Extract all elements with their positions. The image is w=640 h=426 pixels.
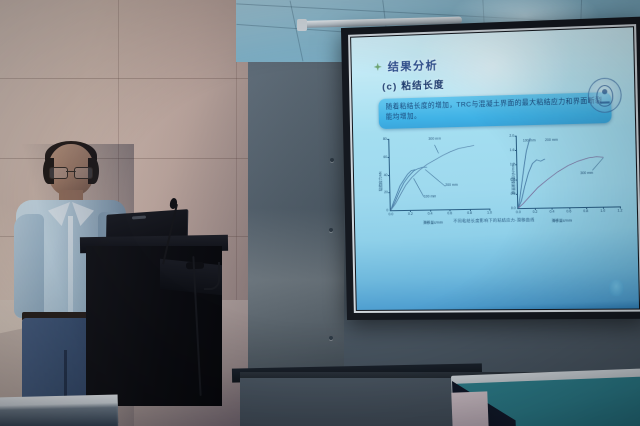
slide-callout-box: 随着粘结长度的增加，TRC与混凝土界面的最大粘结应力和界面断裂能均增加。 xyxy=(378,92,611,129)
series-annotation: 300 mm xyxy=(580,170,593,174)
wall-fixture-dot xyxy=(329,228,333,232)
chart-plot-area: 0.0 0.4 0.8 1.2 1.6 2.0 0.0 0.2 0.4 0.6 xyxy=(516,133,620,209)
series-annotation: 100 mm xyxy=(424,194,437,198)
series-annotation: 100 mm xyxy=(523,138,536,142)
chart-plot-area: 0 20 40 60 80 0.0 0.2 0.4 0.6 0.8 1.0 xyxy=(388,136,489,211)
chart-series-lines xyxy=(389,136,489,210)
chart-fracture-energy: 界面断裂能/(N/mm) 0.0 0.4 0.8 1.2 1.6 2.0 0.0… xyxy=(498,129,624,226)
slide-title-row: 结果分析 xyxy=(374,57,439,75)
leader-200mm xyxy=(425,169,445,187)
cable-loop xyxy=(204,262,220,290)
series-annotation: 200 mm xyxy=(545,138,558,142)
slide-subtitle: (c) 粘结长度 xyxy=(382,77,445,93)
roller-bracket xyxy=(297,19,307,31)
x-tick: 0.0 xyxy=(516,209,521,214)
lecture-hall-photo: 结果分析 (c) 粘结长度 随着粘结长度的增加，TRC与混凝土界面的最大粘结应力… xyxy=(0,0,640,426)
series-annotation: 300 mm xyxy=(428,136,441,140)
slide-charts: 粘结应力/kN 0 20 40 60 80 0.0 0.2 0.4 0.6 0.… xyxy=(371,129,624,228)
series-100mm xyxy=(517,138,532,208)
wall-fixture-dot xyxy=(329,336,333,340)
x-tick: 0.0 xyxy=(388,211,393,216)
projection-screen: 结果分析 (c) 粘结长度 随着粘结长度的增加，TRC与混凝土界面的最大粘结应力… xyxy=(341,17,640,320)
series-300mm xyxy=(517,157,604,209)
chart-bond-stress: 粘结应力/kN 0 20 40 60 80 0.0 0.2 0.4 0.6 0.… xyxy=(371,132,494,227)
diamond-bullet-icon xyxy=(374,63,382,71)
series-300mm xyxy=(389,145,475,210)
slide-title: 结果分析 xyxy=(388,57,439,75)
presentation-slide: 结果分析 (c) 粘结长度 随着粘结长度的增加，TRC与混凝土界面的最大粘结应力… xyxy=(351,27,639,310)
desk-front-left xyxy=(0,394,118,426)
emblem-core xyxy=(596,84,613,106)
series-annotation: 200 mm xyxy=(445,183,458,187)
leader-100mm xyxy=(414,178,424,197)
leader-300mm xyxy=(434,145,438,154)
vase-emblem-icon xyxy=(609,280,624,297)
leader-300mm xyxy=(592,158,604,171)
chart-series-lines xyxy=(517,133,620,208)
wall-fixture-dot xyxy=(330,158,334,162)
desk-front-right-panel xyxy=(451,391,488,426)
